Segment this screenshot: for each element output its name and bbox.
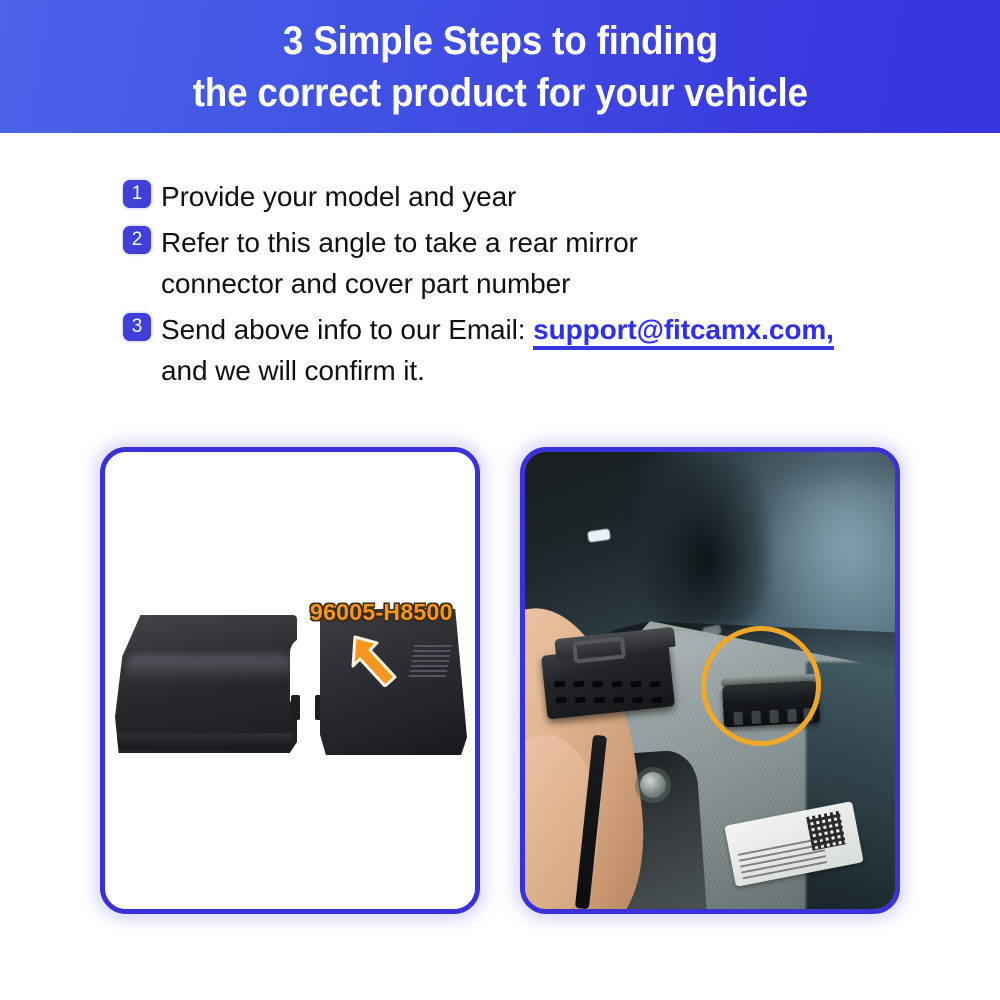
image-panels: 96005-H8500 — [0, 447, 1000, 927]
step-3-line-2: and we will confirm it. — [161, 350, 834, 391]
bracket-screw — [640, 772, 666, 798]
socket-highlight-circle — [701, 626, 821, 746]
panel-vehicle-connector-photo[interactable] — [520, 447, 900, 914]
cover-left-edge — [117, 733, 293, 749]
header-title-line-1: 3 Simple Steps to finding — [282, 15, 717, 67]
cover-left-highlight — [125, 655, 293, 681]
step-badge-1: 1 — [123, 180, 151, 208]
step-item-1: 1 Provide your model and year — [0, 176, 1000, 217]
cover-tab-left — [291, 695, 300, 720]
part-number-arrow-icon — [351, 631, 405, 687]
step-badge-2: 2 — [123, 226, 151, 254]
support-email-link[interactable]: support@fitcamx.com, — [533, 314, 834, 350]
cover-left-half — [115, 615, 297, 753]
vehicle-connector-image — [525, 452, 895, 909]
step-1-line-1: Provide your model and year — [161, 181, 516, 212]
header-banner: 3 Simple Steps to finding the correct pr… — [0, 0, 1000, 133]
panel-mirror-cover-photo[interactable]: 96005-H8500 — [100, 447, 480, 914]
step-text-2: Refer to this angle to take a rear mirro… — [161, 222, 638, 304]
header-title-line-2: the correct product for your vehicle — [192, 67, 807, 119]
step-text-1: Provide your model and year — [161, 176, 516, 217]
step-3-line-1: Send above info to our Email: — [161, 314, 525, 345]
part-number-label: 96005-H8500 — [310, 599, 453, 626]
mirror-cover-image: 96005-H8500 — [105, 452, 475, 909]
step-item-3: 3 Send above info to our Email: support@… — [0, 309, 1000, 391]
mirror-body-shadow — [643, 461, 769, 626]
step-2-line-2: connector and cover part number — [161, 263, 638, 304]
steps-list: 1 Provide your model and year 2 Refer to… — [0, 176, 1000, 396]
step-2-line-1: Refer to this angle to take a rear mirro… — [161, 227, 638, 258]
step-text-3: Send above info to our Email: support@fi… — [161, 309, 834, 391]
step-item-2: 2 Refer to this angle to take a rear mir… — [0, 222, 1000, 304]
step-badge-3: 3 — [123, 313, 151, 341]
cover-vent-slots — [408, 645, 452, 679]
mirror-cover-part: 96005-H8500 — [115, 609, 467, 757]
cover-center-notch — [290, 637, 324, 703]
